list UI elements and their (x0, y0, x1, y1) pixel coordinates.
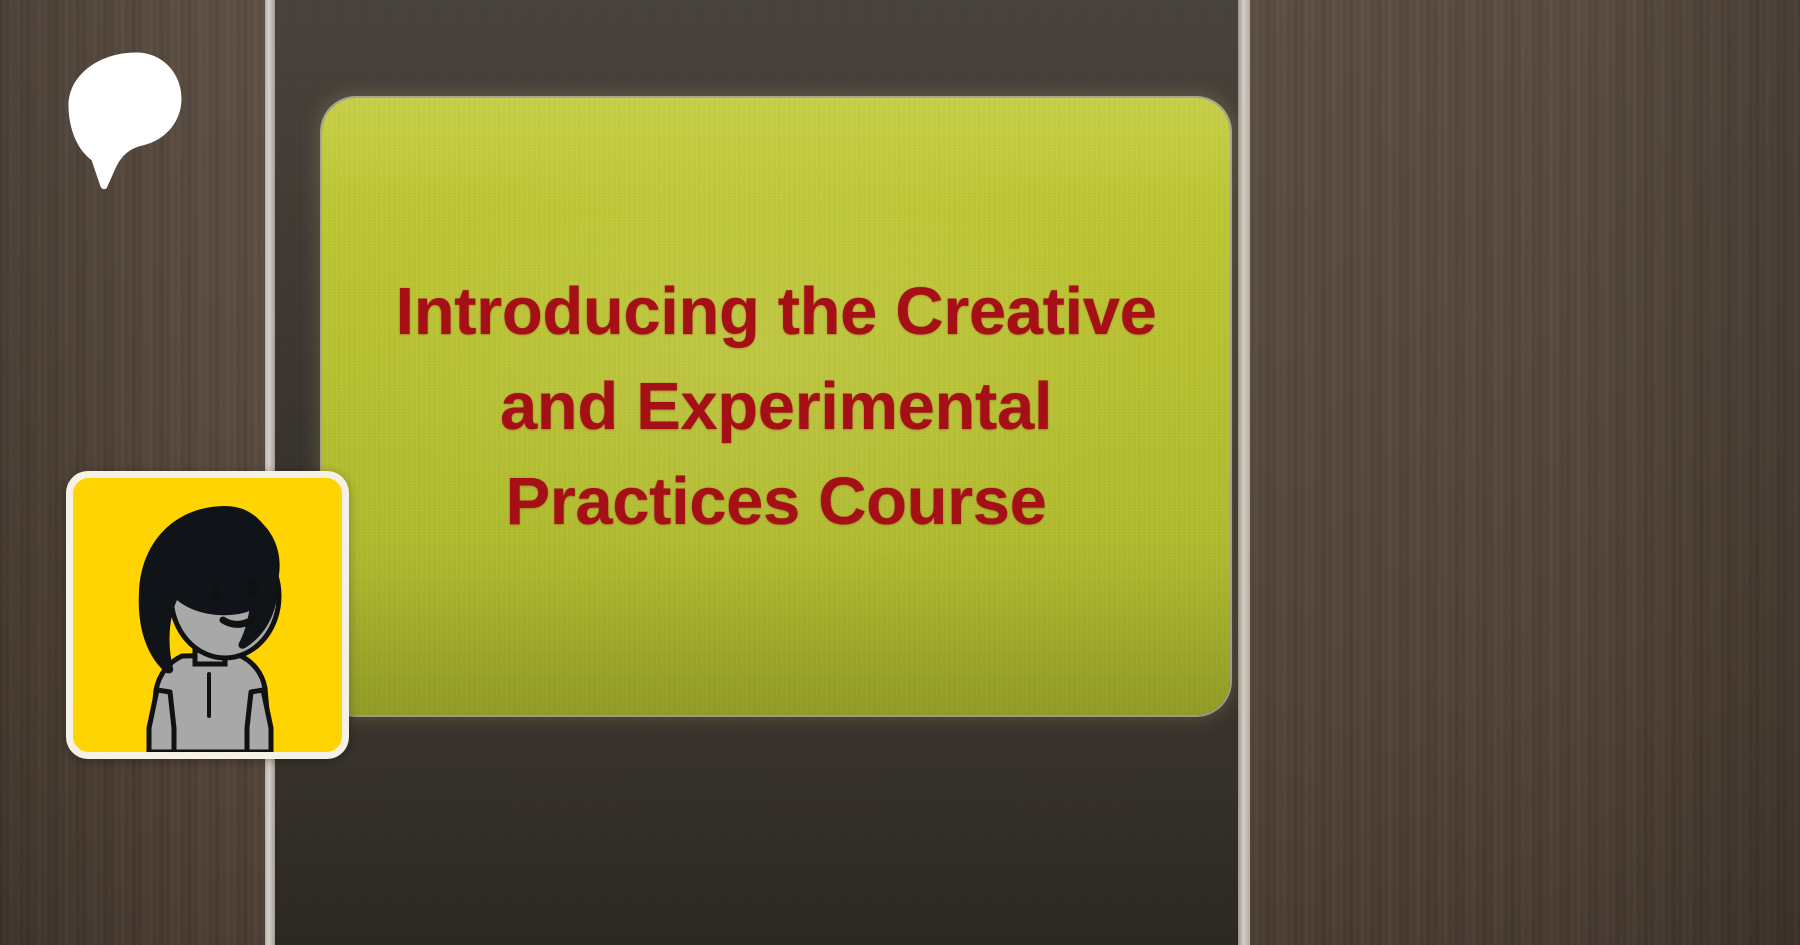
patreon-logo-icon[interactable] (66, 48, 184, 190)
screen-surface: Introducing the Creative and Experimenta… (275, 0, 1238, 945)
screen-bezel-right (1238, 0, 1250, 945)
slide-title: Introducing the Creative and Experimenta… (352, 264, 1201, 549)
slide-title-line-2: and Experimental (396, 359, 1157, 454)
slide-title-line-3: Practices Course (396, 454, 1157, 549)
projection-screen: Introducing the Creative and Experimenta… (265, 0, 1250, 945)
creator-avatar-icon (73, 478, 342, 752)
video-frame: Introducing the Creative and Experimenta… (0, 0, 1800, 945)
presentation-slide: Introducing the Creative and Experimenta… (322, 98, 1230, 715)
slide-title-line-1: Introducing the Creative (396, 264, 1157, 359)
creator-avatar[interactable] (66, 471, 349, 759)
